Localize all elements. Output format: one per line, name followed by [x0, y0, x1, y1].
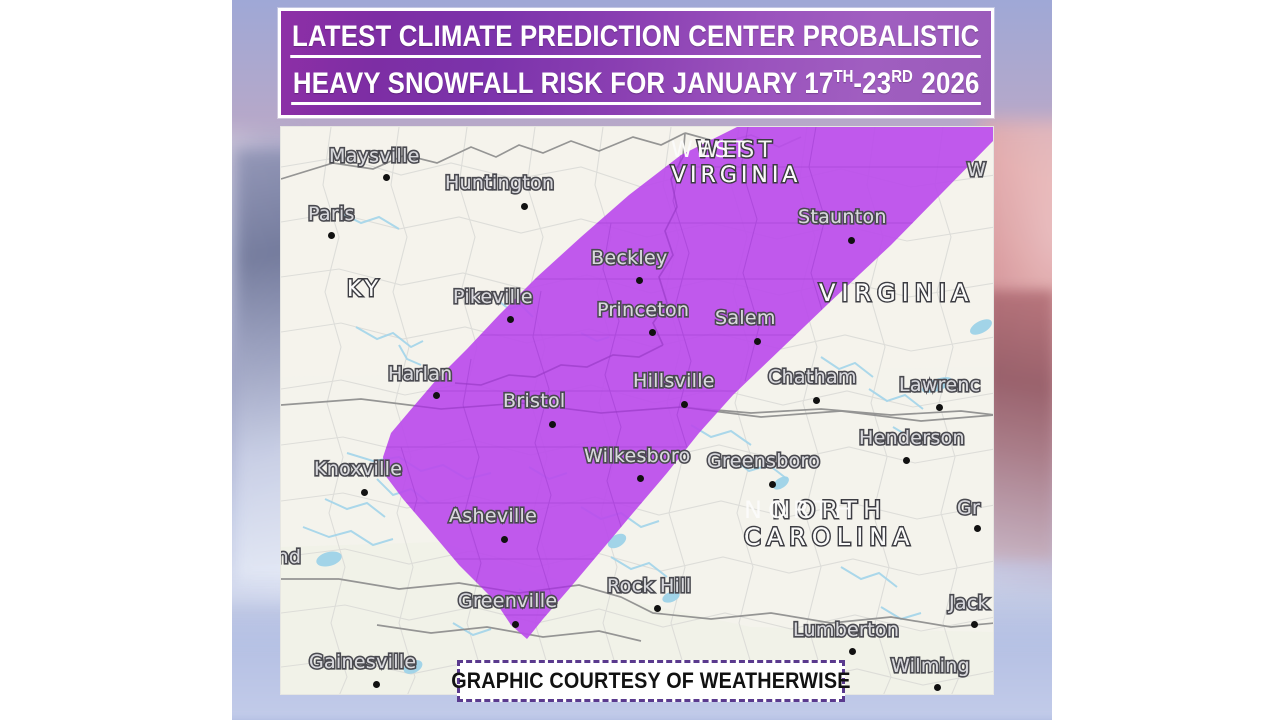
city-label: WilmingWilming: [891, 655, 970, 677]
city-marker-dot: [507, 316, 514, 323]
title-banner: LATEST CLIMATE PREDICTION CENTER PROBALI…: [278, 8, 994, 118]
city-marker-dot: [637, 475, 644, 482]
city-label: HendersonHenderson: [859, 427, 965, 449]
city-marker-dot: [549, 421, 556, 428]
state-label-line: VIRGINIAVIRGINIA: [819, 279, 974, 307]
city-marker-dot: [636, 277, 643, 284]
state-label-line: WESTWEST: [671, 139, 801, 164]
city-label: PikevillePikeville: [453, 286, 533, 308]
city-marker-dot: [361, 489, 368, 496]
city-label: GreenvilleGreenville: [458, 590, 557, 612]
city-label-fill: Beckley: [591, 247, 668, 269]
state-label-line: CAROLINACAROLINA: [744, 524, 916, 551]
city-marker-dot: [649, 329, 656, 336]
city-label-fill: Paris: [308, 203, 355, 225]
courtesy-badge: GRAPHIC COURTESY OF WEATHERWISE: [457, 660, 845, 702]
city-label-fill: Pikeville: [453, 286, 533, 308]
city-label: LumbertonLumberton: [793, 619, 899, 641]
state-label: VIRGINIAVIRGINIA: [819, 279, 974, 307]
state-label-line: KYKY: [347, 277, 382, 302]
city-label-fill: Gainesville: [309, 651, 416, 673]
letterbox-left: [0, 0, 232, 720]
city-marker-dot: [974, 525, 981, 532]
city-label: Rock HillRock Hill: [607, 575, 691, 597]
city-label: WilkesboroWilkesboro: [584, 445, 691, 467]
city-label-fill: Wilming: [891, 655, 970, 677]
title-ordinal-rd: RD: [891, 66, 913, 86]
city-label: GreensboroGreensboro: [707, 450, 820, 472]
forecast-map[interactable]: MaysvilleMaysvilleHuntingtonHuntingtonPa…: [280, 126, 994, 695]
state-label-line: NORTHNORTH: [744, 497, 916, 524]
city-label-fill: Greenville: [458, 590, 557, 612]
title-line-2: HEAVY SNOWFALL RISK FOR JANUARY 17TH-23R…: [291, 67, 981, 105]
city-label-fill: Lawrenc: [899, 374, 980, 396]
city-label: BristolBristol: [503, 390, 565, 412]
title-line-2-text: HEAVY SNOWFALL RISK FOR JANUARY 17: [293, 67, 834, 100]
city-label-fill: Princeton: [597, 299, 689, 321]
city-label-fill: Huntington: [445, 172, 554, 194]
city-marker-dot: [373, 681, 380, 688]
city-marker-dot: [383, 174, 390, 181]
city-label-fill: Bristol: [503, 390, 565, 412]
city-label-fill: Maysville: [329, 145, 420, 167]
city-marker-dot: [769, 481, 776, 488]
city-label: JackJack: [949, 592, 989, 614]
city-label-fill: Wilkesboro: [584, 445, 691, 467]
state-label-fill: NORTH: [744, 497, 858, 524]
courtesy-text: GRAPHIC COURTESY OF WEATHERWISE: [451, 668, 850, 694]
city-label-fill: Salem: [715, 307, 776, 329]
city-label: ParisParis: [308, 203, 355, 225]
state-label: NORTHNORTHCAROLINACAROLINA: [744, 497, 916, 551]
city-marker-dot: [654, 605, 661, 612]
city-label: HuntingtonHuntington: [445, 172, 554, 194]
city-label-fill: Gr: [957, 497, 980, 519]
city-label-fill: Henderson: [859, 427, 965, 449]
letterbox-right: [1052, 0, 1280, 720]
title-ordinal-th: TH: [833, 66, 853, 86]
city-label: HillsvilleHillsville: [633, 370, 715, 392]
city-label: AshevilleAsheville: [449, 505, 537, 527]
city-label-fill: Knoxville: [314, 458, 402, 480]
city-label-fill: land: [280, 546, 301, 568]
city-label: HarlanHarlan: [388, 363, 453, 385]
city-label-fill: Asheville: [449, 505, 537, 527]
state-label-line: VIRGINIAVIRGINIA: [671, 164, 801, 189]
city-marker-dot: [934, 684, 941, 691]
state-label: WESTWESTVIRGINIAVIRGINIA: [671, 139, 801, 188]
state-label-fill: CAROLINA: [744, 524, 916, 551]
city-marker-dot: [521, 203, 528, 210]
title-range-end: -23: [853, 67, 891, 100]
backdrop-right-mountain: [985, 290, 1055, 560]
state-label-fill: KY: [347, 277, 382, 302]
state-label-fill: VIRGINIA: [671, 164, 801, 189]
weather-graphic: LATEST CLIMATE PREDICTION CENTER PROBALI…: [0, 0, 1280, 720]
city-label: KnoxvilleKnoxville: [314, 458, 402, 480]
city-label-fill: Lumberton: [793, 619, 899, 641]
city-label-fill: Greensboro: [707, 450, 820, 472]
title-year: 2026: [921, 67, 979, 100]
city-label-fill: Rock Hill: [607, 575, 691, 597]
city-label-fill: Hillsville: [633, 370, 715, 392]
title-line-1: LATEST CLIMATE PREDICTION CENTER PROBALI…: [291, 21, 982, 58]
city-label: PrincetonPrinceton: [597, 299, 689, 321]
city-marker-dot: [501, 536, 508, 543]
city-marker-dot: [328, 232, 335, 239]
city-label: ChathamChatham: [768, 366, 857, 388]
city-label-fill: Chatham: [768, 366, 857, 388]
city-label: WW: [967, 159, 986, 181]
city-label: LawrencLawrenc: [899, 374, 980, 396]
city-label: StauntonStaunton: [798, 206, 887, 228]
city-marker-dot: [681, 401, 688, 408]
city-marker-dot: [903, 457, 910, 464]
city-label-fill: Harlan: [388, 363, 453, 385]
city-label-fill: Jack: [949, 592, 989, 614]
city-label: GrGr: [957, 497, 980, 519]
city-marker-dot: [433, 392, 440, 399]
city-marker-dot: [936, 404, 943, 411]
state-label: KYKY: [347, 277, 382, 302]
city-marker-dot: [849, 648, 856, 655]
city-label: GainesvilleGainesville: [309, 651, 416, 673]
city-label-fill: W: [967, 159, 986, 181]
city-label-fill: Staunton: [798, 206, 887, 228]
city-label: MaysvilleMaysville: [329, 145, 420, 167]
city-marker-dot: [512, 621, 519, 628]
city-label: BeckleyBeckley: [591, 247, 668, 269]
map-canvas: [281, 127, 994, 695]
city-marker-dot: [813, 397, 820, 404]
city-label: SalemSalem: [715, 307, 776, 329]
state-label-fill: VIRGINIA: [819, 279, 974, 307]
state-label-fill: WEST: [671, 139, 750, 164]
city-marker-dot: [848, 237, 855, 244]
city-label: landland: [280, 546, 301, 568]
city-marker-dot: [971, 621, 978, 628]
city-marker-dot: [754, 338, 761, 345]
